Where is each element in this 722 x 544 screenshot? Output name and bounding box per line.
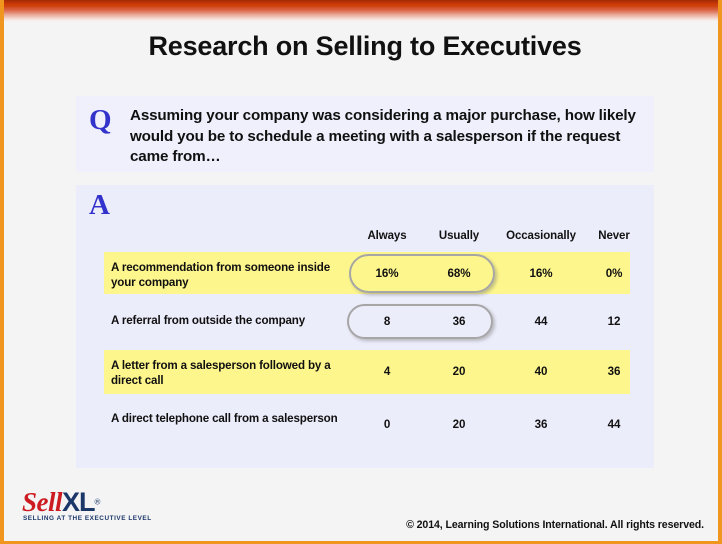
row-value-never: 0% bbox=[584, 267, 644, 280]
column-header-always: Always bbox=[354, 230, 420, 242]
table-row: A letter from a salesperson followed by … bbox=[104, 350, 630, 394]
answer-panel: A Always Usually Occasionally Never A re… bbox=[76, 185, 654, 468]
page-title: Research on Selling to Executives bbox=[4, 31, 722, 62]
row-value-usually: 20 bbox=[426, 365, 492, 378]
slide-canvas: Research on Selling to Executives Q Assu… bbox=[0, 0, 722, 544]
results-table: Always Usually Occasionally Never A reco… bbox=[76, 185, 654, 468]
row-label: A referral from outside the company bbox=[111, 314, 353, 329]
row-value-occasionally: 36 bbox=[498, 418, 584, 431]
row-label: A direct telephone call from a salespers… bbox=[111, 412, 353, 427]
question-panel: Q Assuming your company was considering … bbox=[76, 96, 654, 172]
row-value-occasionally: 16% bbox=[498, 267, 584, 280]
row-value-occasionally: 40 bbox=[498, 365, 584, 378]
logo-word-sell: Sell bbox=[22, 487, 62, 517]
logo-word-xl: XL bbox=[62, 487, 95, 517]
sellxl-logo: SellXL® SELLING AT THE EXECUTIVE LEVEL bbox=[22, 487, 202, 531]
row-value-usually: 20 bbox=[426, 418, 492, 431]
copyright-notice: © 2014, Learning Solutions International… bbox=[406, 519, 704, 531]
question-badge: Q bbox=[89, 104, 112, 137]
registered-trademark-icon: ® bbox=[95, 498, 101, 507]
question-text: Assuming your company was considering a … bbox=[130, 106, 642, 168]
row-label: A recommendation from someone inside you… bbox=[111, 261, 353, 290]
column-header-usually: Usually bbox=[426, 230, 492, 242]
row-label: A letter from a salesperson followed by … bbox=[111, 359, 353, 388]
row-value-never: 12 bbox=[584, 315, 644, 328]
row-value-never: 44 bbox=[584, 418, 644, 431]
highlight-oval-row-1 bbox=[349, 254, 495, 293]
row-value-occasionally: 44 bbox=[498, 315, 584, 328]
top-gradient-band bbox=[4, 0, 718, 22]
top-band-core-stripe bbox=[4, 0, 718, 7]
row-value-always: 4 bbox=[354, 365, 420, 378]
row-value-always: 0 bbox=[354, 418, 420, 431]
logo-wordmark: SellXL® bbox=[22, 487, 100, 518]
highlight-oval-row-2 bbox=[347, 304, 493, 339]
column-header-occasionally: Occasionally bbox=[498, 230, 584, 242]
table-row: A direct telephone call from a salespers… bbox=[104, 403, 630, 447]
column-header-never: Never bbox=[584, 230, 644, 242]
row-value-never: 36 bbox=[584, 365, 644, 378]
logo-tagline: SELLING AT THE EXECUTIVE LEVEL bbox=[23, 515, 152, 522]
